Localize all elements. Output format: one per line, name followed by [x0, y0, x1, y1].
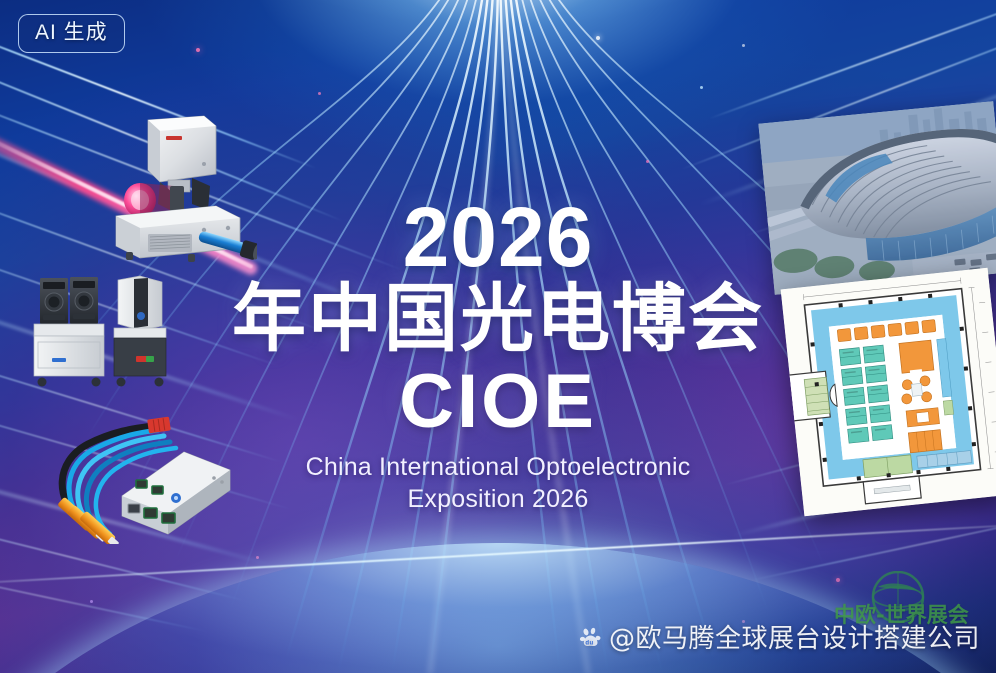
ai-generated-badge: AI 生成: [18, 14, 125, 53]
sparkle-dot: [646, 160, 649, 163]
exhibition-hall-floor-plan: [781, 268, 996, 516]
title-acronym: CIOE: [188, 363, 808, 441]
sparkle-dot: [700, 86, 703, 89]
title-year: 2026: [188, 196, 808, 278]
sparkle-dot: [596, 36, 600, 40]
title-english-line1: China International Optoelectronic: [188, 452, 808, 484]
poster-title-block: 2026 年中国光电博会 CIOE China International Op…: [188, 196, 808, 515]
title-chinese: 年中国光电博会: [188, 280, 808, 358]
ai-badge-label: AI 生成: [35, 21, 108, 44]
sparkle-dot: [742, 44, 745, 47]
svg-text:du: du: [585, 640, 593, 646]
sparkle-dot: [318, 92, 321, 95]
watermark-handle: du @欧马腾全球展台设计搭建公司: [579, 618, 980, 655]
sparkle-dot: [90, 600, 93, 603]
title-english-line2: Exposition 2026: [188, 484, 808, 516]
sparkle-dot: [256, 556, 259, 559]
sparkle-dot: [196, 48, 200, 52]
watermark-handle-text: @欧马腾全球展台设计搭建公司: [609, 618, 980, 655]
baidu-paw-icon: du: [579, 625, 603, 649]
poster-canvas: AI 生成: [0, 0, 996, 673]
